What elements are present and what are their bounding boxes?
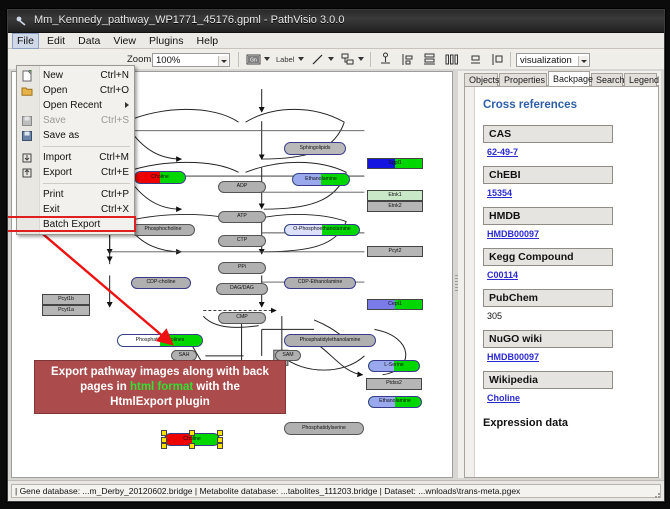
xref-source-hmdb: HMDB	[483, 207, 613, 225]
tab-objects[interactable]: Objects	[464, 73, 498, 86]
xref-link[interactable]: 62-49-7	[487, 147, 518, 157]
file-menu-item-batch-export[interactable]: Batch Export	[17, 217, 134, 232]
submenu-arrow-icon	[125, 102, 129, 108]
zoom-value: 100%	[156, 55, 180, 66]
xref-link[interactable]: HMDB00097	[487, 352, 539, 362]
backpage-scrollbar[interactable]	[465, 87, 475, 477]
xref-source-pubchem: PubChem	[483, 289, 613, 307]
interaction-dropdown-icon[interactable]	[358, 57, 365, 62]
screenshot-root: Mm_Kennedy_pathway_WP1771_45176.gpml - P…	[0, 0, 670, 509]
file-menu-item-import[interactable]: ImportCtrl+M	[17, 150, 134, 165]
batch-export-highlight-box	[7, 216, 136, 232]
xref-source-kegg-compound: Kegg Compound	[483, 248, 613, 266]
application-window: Mm_Kennedy_pathway_WP1771_45176.gpml - P…	[7, 9, 665, 502]
xref-link[interactable]: Choline	[487, 393, 520, 403]
visualization-value: visualization	[520, 55, 572, 66]
window-title: Mm_Kennedy_pathway_WP1771_45176.gpml - P…	[34, 14, 344, 26]
selection-handle[interactable]	[217, 430, 223, 436]
selection-handle[interactable]	[161, 430, 167, 436]
xref-source-chebi: ChEBI	[483, 166, 613, 184]
tab-legend[interactable]: Legend	[624, 73, 657, 86]
file-menu-item-accelerator: Ctrl+S	[101, 113, 129, 128]
file-menu-item-open[interactable]: OpenCtrl+O	[17, 83, 134, 98]
export-icon	[21, 167, 33, 179]
tab-backpage[interactable]: Backpage	[548, 71, 590, 86]
datanode-dropdown-icon[interactable]	[264, 57, 271, 62]
file-menu-item-label: New	[43, 70, 63, 81]
file-menu-item-open-recent[interactable]: Open Recent	[17, 98, 134, 113]
distribute-icon[interactable]	[444, 52, 459, 67]
xref-value-wrapper: Choline	[487, 393, 652, 403]
group-icon[interactable]	[490, 52, 505, 67]
save-as-icon	[21, 130, 33, 142]
new-file-icon	[21, 70, 33, 82]
file-menu-item-label: Open	[43, 85, 67, 96]
selection-handle[interactable]	[217, 437, 223, 443]
save-disk-icon	[21, 115, 33, 127]
menu-data[interactable]: Data	[73, 33, 105, 48]
cross-reference-list: CAS62-49-7ChEBI15354HMDBHMDB00097Kegg Co…	[483, 125, 652, 403]
annotation-callout: Export pathway images along with back pa…	[34, 360, 286, 414]
status-text: | Gene database: ...m_Derby_20120602.bri…	[11, 484, 661, 498]
tab-properties[interactable]: Properties	[499, 73, 547, 86]
visualization-combo[interactable]: visualization	[516, 53, 590, 67]
zoom-label: Zoom:	[127, 54, 154, 65]
menu-separator	[43, 146, 130, 147]
callout-line2-a: pages in	[80, 381, 130, 393]
selection-handle[interactable]	[217, 443, 223, 449]
xref-value-wrapper: HMDB00097	[487, 229, 652, 239]
xref-link[interactable]: HMDB00097	[487, 229, 539, 239]
chevron-down-icon[interactable]	[218, 56, 228, 66]
datanode-icon[interactable]: Gn	[246, 52, 261, 67]
file-menu-item-label: Open Recent	[43, 100, 102, 111]
callout-line3: HtmlExport plugin	[110, 396, 210, 408]
file-menu-item-label: Export	[43, 167, 72, 178]
xref-source-cas: CAS	[483, 125, 613, 143]
file-menu-item-exit[interactable]: ExitCtrl+X	[17, 202, 134, 217]
menu-edit[interactable]: Edit	[42, 33, 70, 48]
xref-value-wrapper: 15354	[487, 188, 652, 198]
file-menu-item-label: Save	[43, 115, 66, 126]
chevron-down-icon[interactable]	[578, 56, 588, 66]
status-bar: | Gene database: ...m_Derby_20120602.bri…	[8, 480, 664, 501]
menu-file[interactable]: File	[12, 33, 39, 49]
xref-value-wrapper: HMDB00097	[487, 352, 652, 362]
menu-help[interactable]: Help	[192, 33, 224, 48]
file-menu-item-accelerator: Ctrl+P	[101, 187, 129, 202]
title-bar: Mm_Kennedy_pathway_WP1771_45176.gpml - P…	[8, 10, 664, 33]
menu-separator	[43, 183, 130, 184]
tab-search[interactable]: Search	[591, 73, 623, 86]
selection-handle[interactable]	[189, 430, 195, 436]
selection-handle[interactable]	[189, 443, 195, 449]
file-menu-item-accelerator: Ctrl+M	[99, 150, 129, 165]
import-icon	[21, 152, 33, 164]
zoom-combo[interactable]: 100%	[152, 53, 230, 67]
label-dropdown-icon[interactable]	[298, 57, 305, 62]
backpage-content: Cross references CAS62-49-7ChEBI15354HMD…	[477, 87, 658, 477]
xref-link[interactable]: 15354	[487, 188, 512, 198]
folder-open-icon	[21, 85, 33, 97]
backpage-panel: Cross references CAS62-49-7ChEBI15354HMD…	[464, 86, 659, 478]
file-menu-item-accelerator: Ctrl+N	[100, 68, 129, 83]
side-panel: Objects Properties Backpage Search Legen…	[458, 71, 661, 478]
line-icon[interactable]	[310, 52, 325, 67]
interaction-icon[interactable]	[340, 52, 355, 67]
callout-line2-highlight: html format	[130, 381, 193, 393]
menu-bar: File Edit Data View Plugins Help	[8, 33, 664, 49]
resize-grip-icon[interactable]	[651, 489, 661, 499]
file-menu-item-export[interactable]: ExportCtrl+E	[17, 165, 134, 180]
pathvisio-icon	[15, 15, 27, 27]
file-menu-item-save-as[interactable]: Save as	[17, 128, 134, 143]
svg-text:Gn: Gn	[250, 58, 257, 64]
stack-center-icon[interactable]	[422, 52, 437, 67]
selection-handle[interactable]	[161, 443, 167, 449]
file-menu-item-label: Exit	[43, 204, 60, 215]
file-menu-item-accelerator: Ctrl+O	[100, 83, 129, 98]
menu-view[interactable]: View	[108, 33, 141, 48]
xref-source-nugo-wiki: NuGO wiki	[483, 330, 613, 348]
cross-references-heading: Cross references	[483, 99, 652, 111]
callout-line2-b: with the	[193, 381, 240, 393]
file-menu-popup[interactable]: NewCtrl+NOpenCtrl+OOpen RecentSaveCtrl+S…	[16, 65, 135, 235]
xref-link[interactable]: C00114	[487, 270, 518, 280]
file-menu-item-accelerator: Ctrl+X	[101, 202, 129, 217]
file-menu-item-print[interactable]: PrintCtrl+P	[17, 187, 134, 202]
file-menu-item-label: Import	[43, 152, 71, 163]
callout-line1: Export pathway images along with back	[51, 366, 269, 378]
align-left-icon[interactable]	[400, 52, 415, 67]
xref-value-wrapper: 62-49-7	[487, 147, 652, 157]
file-menu-item-new[interactable]: NewCtrl+N	[17, 68, 134, 83]
file-menu-item-label: Save as	[43, 130, 79, 141]
xref-value-wrapper: 305	[487, 311, 652, 321]
xref-value: 305	[487, 311, 502, 321]
line-dropdown-icon[interactable]	[328, 57, 335, 62]
expression-data-heading: Expression data	[483, 417, 652, 429]
menu-plugins[interactable]: Plugins	[144, 33, 188, 48]
label-tool-label[interactable]: Label	[276, 55, 294, 64]
align-top-icon[interactable]	[378, 52, 393, 67]
file-menu-item-save: SaveCtrl+S	[17, 113, 134, 128]
side-panel-tabs: Objects Properties Backpage Search Legen…	[464, 71, 661, 86]
xref-value-wrapper: C00114	[487, 270, 652, 280]
file-menu-items: NewCtrl+NOpenCtrl+OOpen RecentSaveCtrl+S…	[17, 68, 134, 232]
align-bottom-icon[interactable]	[468, 52, 483, 67]
selection-handle[interactable]	[161, 437, 167, 443]
file-menu-item-label: Print	[43, 189, 64, 200]
xref-source-wikipedia: Wikipedia	[483, 371, 613, 389]
file-menu-item-accelerator: Ctrl+E	[101, 165, 129, 180]
